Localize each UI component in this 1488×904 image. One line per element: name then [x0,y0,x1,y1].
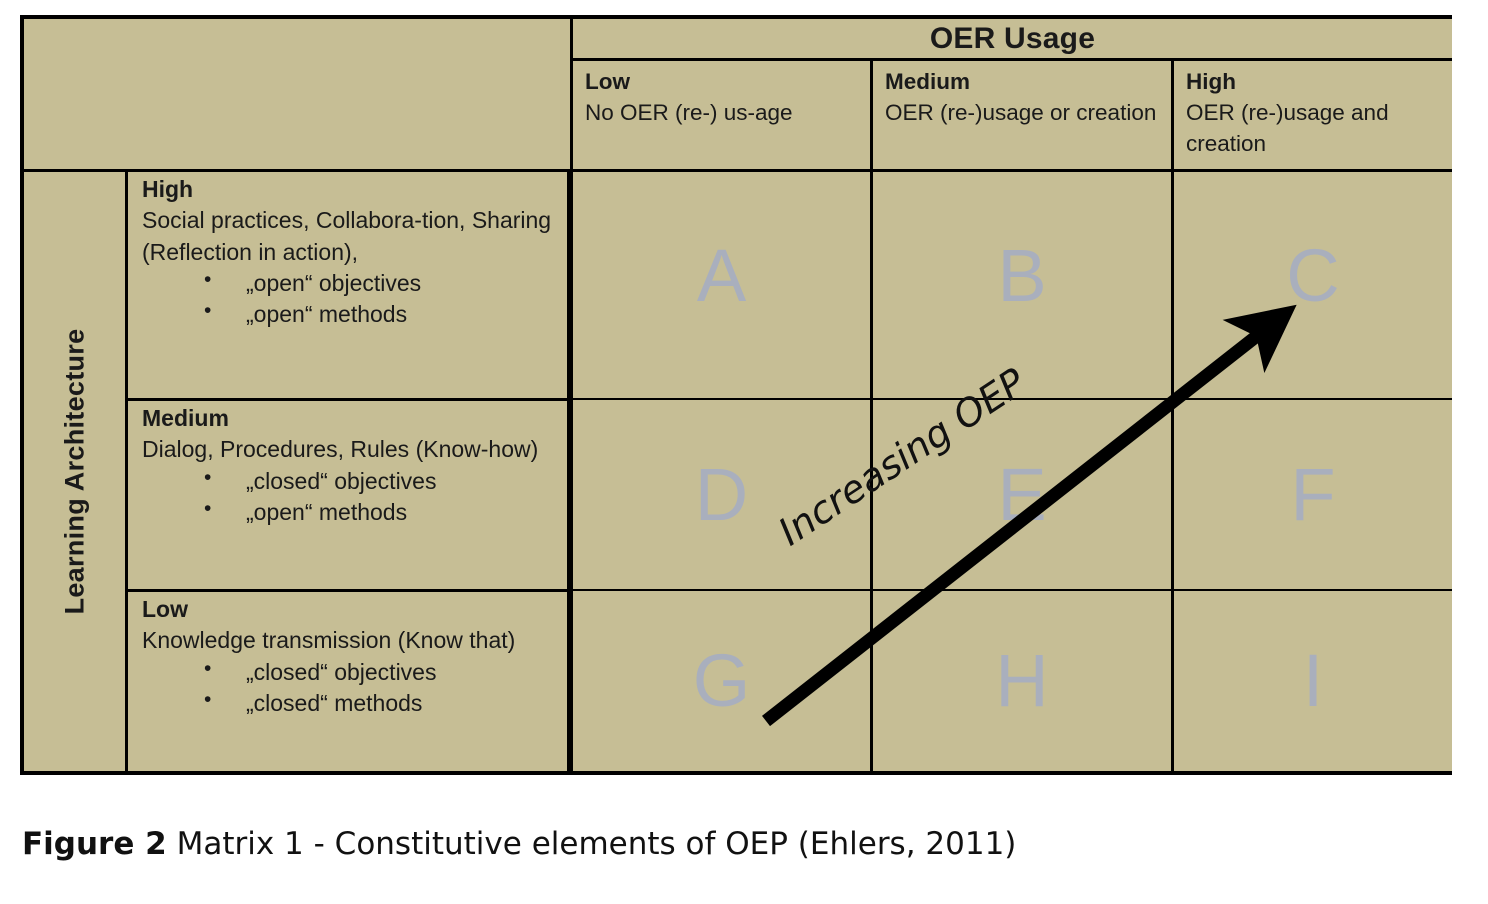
figure-caption-text: Matrix 1 - Constitutive elements of OEP … [167,826,1017,862]
column-header-high: High OER (re-)usage and creation [1171,61,1452,172]
matrix-cell-e: E [870,398,1171,589]
list-item: „open“ methods [204,299,561,330]
column-header-medium-level: Medium [885,67,1163,98]
column-header-high-desc: OER (re-)usage and creation [1186,98,1444,160]
row-header-low-level: Low [142,594,561,625]
header-corner-blank [24,19,570,61]
matrix-cell-b: B [870,172,1171,398]
matrix-cell-g: G [570,589,870,771]
figure-caption: Figure 2 Matrix 1 - Constitutive element… [22,826,1016,862]
column-header-medium: Medium OER (re-)usage or creation [870,61,1171,172]
matrix-cell-i: I [1171,589,1452,771]
figure-number: Figure 2 [22,826,167,862]
matrix-cell-h-label: H [995,644,1048,718]
row-header-medium-desc: Dialog, Procedures, Rules (Know-how) [142,436,538,462]
row-header-medium: Medium Dialog, Procedures, Rules (Know-h… [128,398,570,589]
row-header-high: High Social practices, Collabora-tion, S… [128,172,570,398]
row-header-low: Low Knowledge transmission (Know that) „… [128,589,570,771]
column-header-low-desc: No OER (re-) us-age [585,98,862,129]
matrix-cell-h: H [870,589,1171,771]
row-header-high-bullets: „open“ objectives „open“ methods [142,268,561,331]
row-axis-title-label: Learning Architecture [59,329,90,615]
figure-container: OER Usage Low No OER (re-) us-age Medium… [0,0,1488,904]
column-axis-title: OER Usage [570,19,1452,61]
matrix-cell-g-label: G [693,644,751,718]
matrix-cell-f: F [1171,398,1452,589]
row-header-high-desc: Social practices, Collabora-tion, Sharin… [142,207,551,264]
matrix-cell-c-label: C [1286,239,1339,313]
row-header-medium-level: Medium [142,403,561,434]
list-item: „open“ objectives [204,268,561,299]
row-header-low-desc: Knowledge transmission (Know that) [142,627,515,653]
list-item: „closed“ objectives [204,657,561,688]
matrix-cell-f-label: F [1290,458,1335,532]
column-header-high-level: High [1186,67,1444,98]
oep-matrix-table: OER Usage Low No OER (re-) us-age Medium… [20,15,1452,775]
matrix-cell-d-label: D [695,458,748,532]
header-row-label-blank [24,61,570,172]
matrix-cell-e-label: E [997,458,1046,532]
matrix-cell-i-label: I [1303,644,1324,718]
matrix-cell-a-label: A [697,239,746,313]
column-header-low-level: Low [585,67,862,98]
row-header-high-level: High [142,174,561,205]
matrix-cell-c: C [1171,172,1452,398]
matrix-cell-d: D [570,398,870,589]
list-item: „closed“ methods [204,688,561,719]
list-item: „closed“ objectives [204,466,561,497]
matrix-cell-a: A [570,172,870,398]
column-header-medium-desc: OER (re-)usage or creation [885,98,1163,129]
row-axis-title: Learning Architecture [24,172,128,771]
row-header-medium-bullets: „closed“ objectives „open“ methods [142,466,561,529]
column-header-low: Low No OER (re-) us-age [570,61,870,172]
list-item: „open“ methods [204,497,561,528]
row-header-low-bullets: „closed“ objectives „closed“ methods [142,657,561,720]
matrix-cell-b-label: B [997,239,1046,313]
